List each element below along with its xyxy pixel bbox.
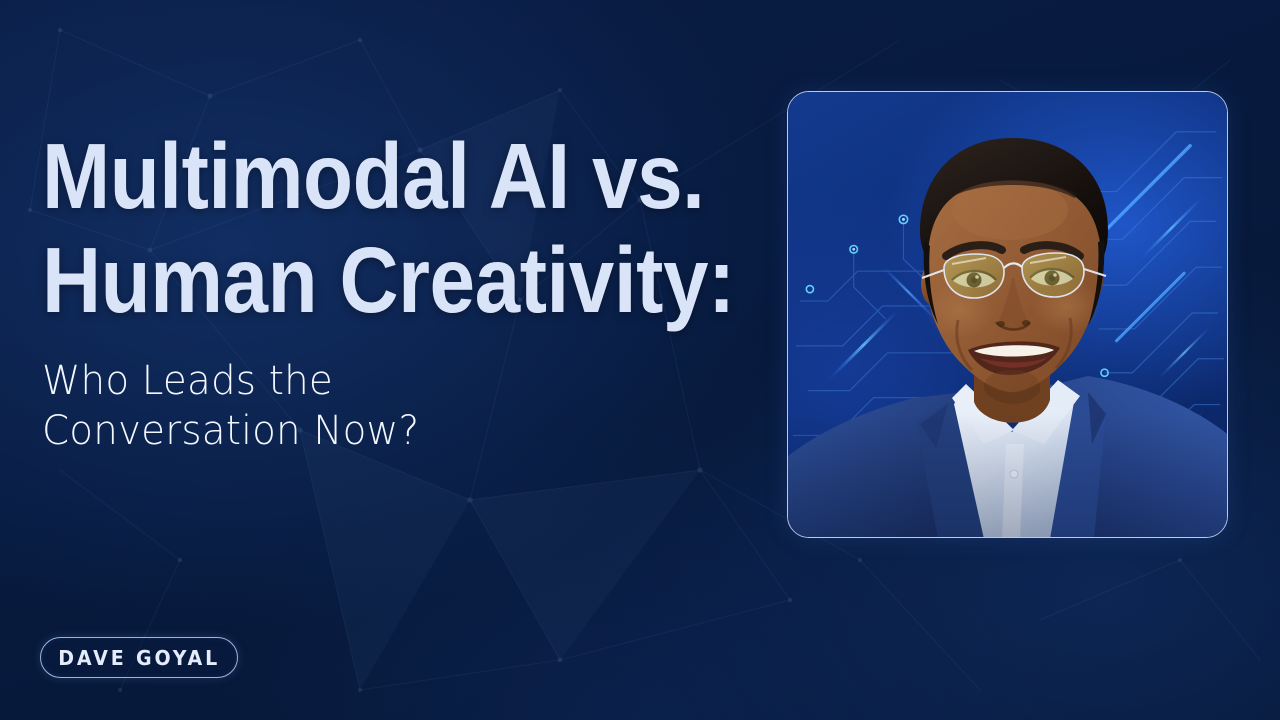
portrait-frame xyxy=(787,91,1228,538)
title-card: Multimodal AI vs. Human Creativity: Who … xyxy=(0,0,1280,720)
brand-logo-badge[interactable]: DAVE GOYAL xyxy=(40,637,238,678)
page-subtitle: Who Leads the Conversation Now? xyxy=(42,356,721,456)
page-title: Multimodal AI vs. Human Creativity: xyxy=(42,124,658,332)
brand-name-label: DAVE GOYAL xyxy=(58,646,220,670)
portrait-photo xyxy=(788,92,1228,538)
headline-line-2: Human Creativity: xyxy=(42,228,658,332)
headline-line-1: Multimodal AI vs. xyxy=(42,124,658,228)
subheadline-line-1: Who Leads the xyxy=(42,356,721,406)
subheadline-line-2: Conversation Now? xyxy=(42,406,721,456)
text-column: Multimodal AI vs. Human Creativity: Who … xyxy=(42,124,742,456)
